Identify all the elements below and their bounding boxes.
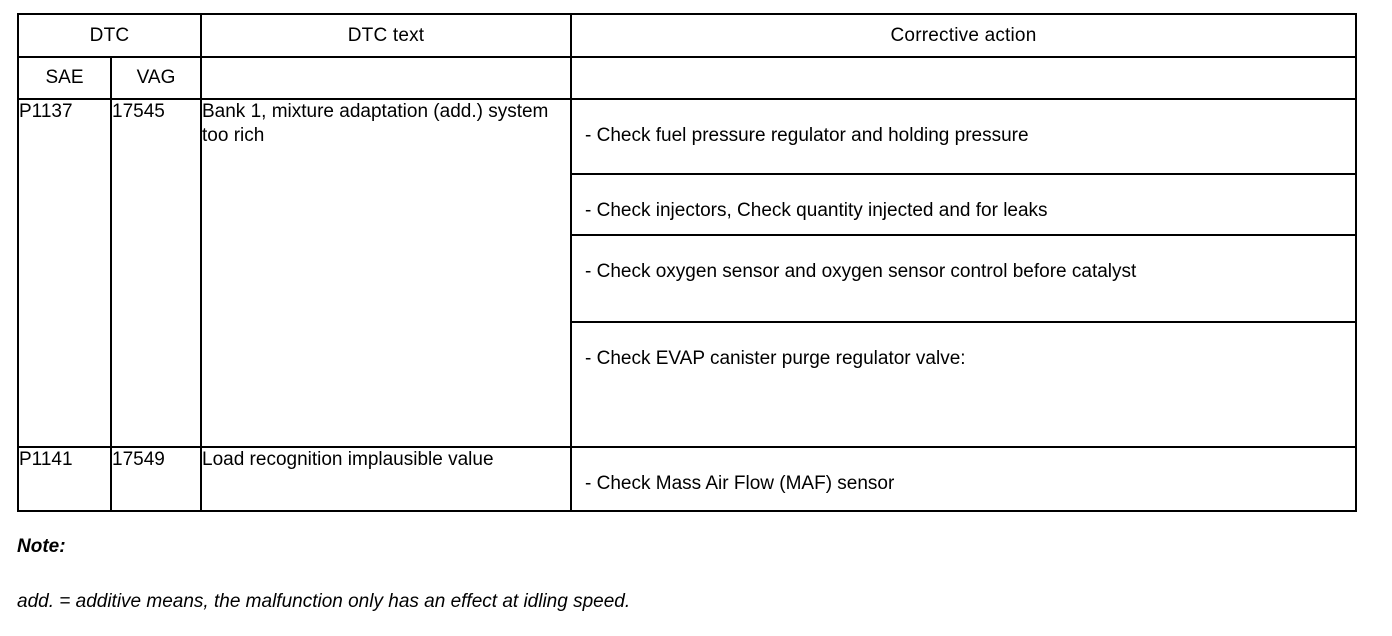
note-body: add. = additive means, the malfunction o…	[17, 591, 1367, 613]
cell-sae-code: P1141	[18, 447, 111, 511]
cell-vag-code: 17545	[111, 99, 201, 447]
table-row: P1141 17549 Load recognition implausible…	[18, 447, 1356, 511]
table-header-row-secondary: SAE VAG	[18, 57, 1356, 99]
cell-corrective-actions: - Check Mass Air Flow (MAF) sensor	[571, 447, 1356, 511]
action-cell: - Check fuel pressure regulator and hold…	[572, 100, 1355, 174]
action-cell: - Check Mass Air Flow (MAF) sensor	[572, 448, 1355, 510]
action-cell: - Check injectors, Check quantity inject…	[572, 174, 1355, 235]
corrective-action-list: - Check fuel pressure regulator and hold…	[572, 100, 1355, 446]
header-sae: SAE	[18, 57, 111, 99]
action-cell: - Check EVAP canister purge regulator va…	[572, 322, 1355, 446]
table-row: P1137 17545 Bank 1, mixture adaptation (…	[18, 99, 1356, 447]
corrective-action-list: - Check Mass Air Flow (MAF) sensor	[572, 448, 1355, 510]
action-text: - Check fuel pressure regulator and hold…	[585, 100, 1355, 148]
cell-dtc-text: Bank 1, mixture adaptation (add.) system…	[201, 99, 571, 447]
header-vag: VAG	[111, 57, 201, 99]
action-text: - Check EVAP canister purge regulator va…	[585, 323, 1355, 371]
cell-vag-code: 17549	[111, 447, 201, 511]
list-item: - Check Mass Air Flow (MAF) sensor	[572, 448, 1355, 510]
header-corrective-action: Corrective action	[571, 14, 1356, 57]
header-dtc-group: DTC	[18, 14, 201, 57]
list-item: - Check EVAP canister purge regulator va…	[572, 322, 1355, 446]
dtc-table: DTC DTC text Corrective action SAE VAG P…	[17, 13, 1357, 512]
cell-dtc-text: Load recognition implausible value	[201, 447, 571, 511]
header-dtc-text-spacer	[201, 57, 571, 99]
action-text: - Check Mass Air Flow (MAF) sensor	[585, 448, 1355, 496]
cell-corrective-actions: - Check fuel pressure regulator and hold…	[571, 99, 1356, 447]
document-page: DTC DTC text Corrective action SAE VAG P…	[0, 0, 1392, 636]
action-text: - Check injectors, Check quantity inject…	[585, 175, 1355, 223]
action-text: - Check oxygen sensor and oxygen sensor …	[585, 236, 1355, 284]
list-item: - Check injectors, Check quantity inject…	[572, 174, 1355, 235]
table-header-row-primary: DTC DTC text Corrective action	[18, 14, 1356, 57]
list-item: - Check fuel pressure regulator and hold…	[572, 100, 1355, 174]
header-corrective-action-spacer	[571, 57, 1356, 99]
header-dtc-text: DTC text	[201, 14, 571, 57]
note-label: Note:	[17, 536, 1367, 558]
list-item: - Check oxygen sensor and oxygen sensor …	[572, 235, 1355, 322]
note-block: Note: add. = additive means, the malfunc…	[17, 536, 1367, 613]
cell-sae-code: P1137	[18, 99, 111, 447]
action-cell: - Check oxygen sensor and oxygen sensor …	[572, 235, 1355, 322]
